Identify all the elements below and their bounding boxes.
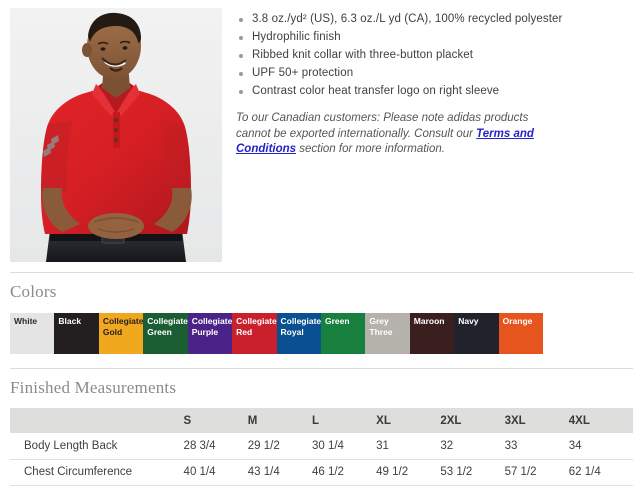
list-item: Ribbed knit collar with three-button pla… xyxy=(236,48,635,63)
color-swatch[interactable]: Grey Three xyxy=(365,313,409,354)
color-swatch[interactable]: Maroon xyxy=(410,313,454,354)
measurements-divider xyxy=(10,368,633,369)
cell-m: 43 1/4 xyxy=(248,459,312,485)
column-header-2xl: 2XL xyxy=(440,408,504,433)
color-swatch-label: Black xyxy=(58,316,97,327)
cell-xl: 31 xyxy=(376,433,440,459)
column-header-4xl: 4XL xyxy=(569,408,633,433)
measurements-table: S M L XL 2XL 3XL 4XL Body Length Back 28… xyxy=(10,408,633,492)
model-photo-graphic xyxy=(10,8,222,262)
color-swatch-label: Collegiate Green xyxy=(147,316,186,337)
color-swatch[interactable]: Collegiate Purple xyxy=(188,313,232,354)
cell-3xl: 11 1/4 xyxy=(505,485,569,492)
cell-2xl: 53 1/2 xyxy=(440,459,504,485)
color-swatch[interactable]: Collegiate Green xyxy=(143,313,187,354)
product-detail-page: 3.8 oz./yd² (US), 6.3 oz./L yd (CA), 100… xyxy=(0,0,643,492)
cell-l: 10 1/4 xyxy=(312,485,376,492)
column-header-xl: XL xyxy=(376,408,440,433)
feature-list: 3.8 oz./yd² (US), 6.3 oz./L yd (CA), 100… xyxy=(236,12,635,99)
cell-4xl: 34 xyxy=(569,433,633,459)
cell-m: 10 xyxy=(248,485,312,492)
cell-3xl: 57 1/2 xyxy=(505,459,569,485)
cell-l: 46 1/2 xyxy=(312,459,376,485)
color-swatch-label: Green xyxy=(325,316,364,327)
row-label: Sleeve Length xyxy=(10,485,184,492)
color-swatch-label: Navy xyxy=(458,316,497,327)
note-text-after-link: section for more information. xyxy=(296,143,445,155)
cell-4xl: 11 1/2 xyxy=(569,485,633,492)
row-label: Chest Circumference xyxy=(10,459,184,485)
column-header-measurement xyxy=(10,408,184,433)
cell-s: 9 1/2 xyxy=(184,485,248,492)
list-item: Hydrophilic finish xyxy=(236,30,635,45)
list-item: Contrast color heat transfer logo on rig… xyxy=(236,84,635,99)
column-header-s: S xyxy=(184,408,248,433)
color-swatch-label: Maroon xyxy=(414,316,453,327)
colors-heading: Colors xyxy=(10,282,643,302)
cell-s: 28 3/4 xyxy=(184,433,248,459)
color-swatch[interactable]: Green xyxy=(321,313,365,354)
color-swatch[interactable]: White xyxy=(10,313,54,354)
measurements-heading: Finished Measurements xyxy=(10,378,643,398)
color-swatch-row: White Black Collegiate Gold Collegiate G… xyxy=(10,313,543,354)
table-header-row: S M L XL 2XL 3XL 4XL xyxy=(10,408,633,433)
color-swatch-label: Grey Three xyxy=(369,316,408,337)
color-swatch-label: Collegiate Gold xyxy=(103,316,142,337)
table-row: Chest Circumference 40 1/4 43 1/4 46 1/2… xyxy=(10,459,633,485)
color-swatch[interactable]: Black xyxy=(54,313,98,354)
color-swatch-label: Orange xyxy=(503,316,542,327)
colors-divider xyxy=(10,272,633,273)
color-swatch-label: Collegiate Red xyxy=(236,316,275,337)
table-row: Body Length Back 28 3/4 29 1/2 30 1/4 31… xyxy=(10,433,633,459)
column-header-3xl: 3XL xyxy=(505,408,569,433)
color-swatch[interactable]: Collegiate Red xyxy=(232,313,276,354)
cell-m: 29 1/2 xyxy=(248,433,312,459)
product-overview: 3.8 oz./yd² (US), 6.3 oz./L yd (CA), 100… xyxy=(0,0,643,262)
cell-s: 40 1/4 xyxy=(184,459,248,485)
cell-4xl: 62 1/4 xyxy=(569,459,633,485)
color-swatch[interactable]: Collegiate Royal xyxy=(277,313,321,354)
table-row: Sleeve Length 9 1/2 10 10 1/4 10 1/2 10 … xyxy=(10,485,633,492)
canadian-customers-note: To our Canadian customers: Please note a… xyxy=(236,111,566,158)
list-item: 3.8 oz./yd² (US), 6.3 oz./L yd (CA), 100… xyxy=(236,12,635,27)
list-item: UPF 50+ protection xyxy=(236,66,635,81)
column-header-l: L xyxy=(312,408,376,433)
table-header: S M L XL 2XL 3XL 4XL xyxy=(10,408,633,433)
row-label: Body Length Back xyxy=(10,433,184,459)
color-swatch[interactable]: Navy xyxy=(454,313,498,354)
cell-3xl: 33 xyxy=(505,433,569,459)
cell-2xl: 32 xyxy=(440,433,504,459)
color-swatch-label: Collegiate Royal xyxy=(281,316,320,337)
cell-2xl: 10 3/4 xyxy=(440,485,504,492)
column-header-m: M xyxy=(248,408,312,433)
product-image[interactable] xyxy=(10,8,222,262)
color-swatch-label: White xyxy=(14,316,53,327)
cell-xl: 49 1/2 xyxy=(376,459,440,485)
color-swatch-label: Collegiate Purple xyxy=(192,316,231,337)
color-swatch[interactable]: Orange xyxy=(499,313,543,354)
color-swatch[interactable]: Collegiate Gold xyxy=(99,313,143,354)
table-body: Body Length Back 28 3/4 29 1/2 30 1/4 31… xyxy=(10,433,633,492)
cell-l: 30 1/4 xyxy=(312,433,376,459)
cell-xl: 10 1/2 xyxy=(376,485,440,492)
product-specs: 3.8 oz./yd² (US), 6.3 oz./L yd (CA), 100… xyxy=(222,8,643,169)
